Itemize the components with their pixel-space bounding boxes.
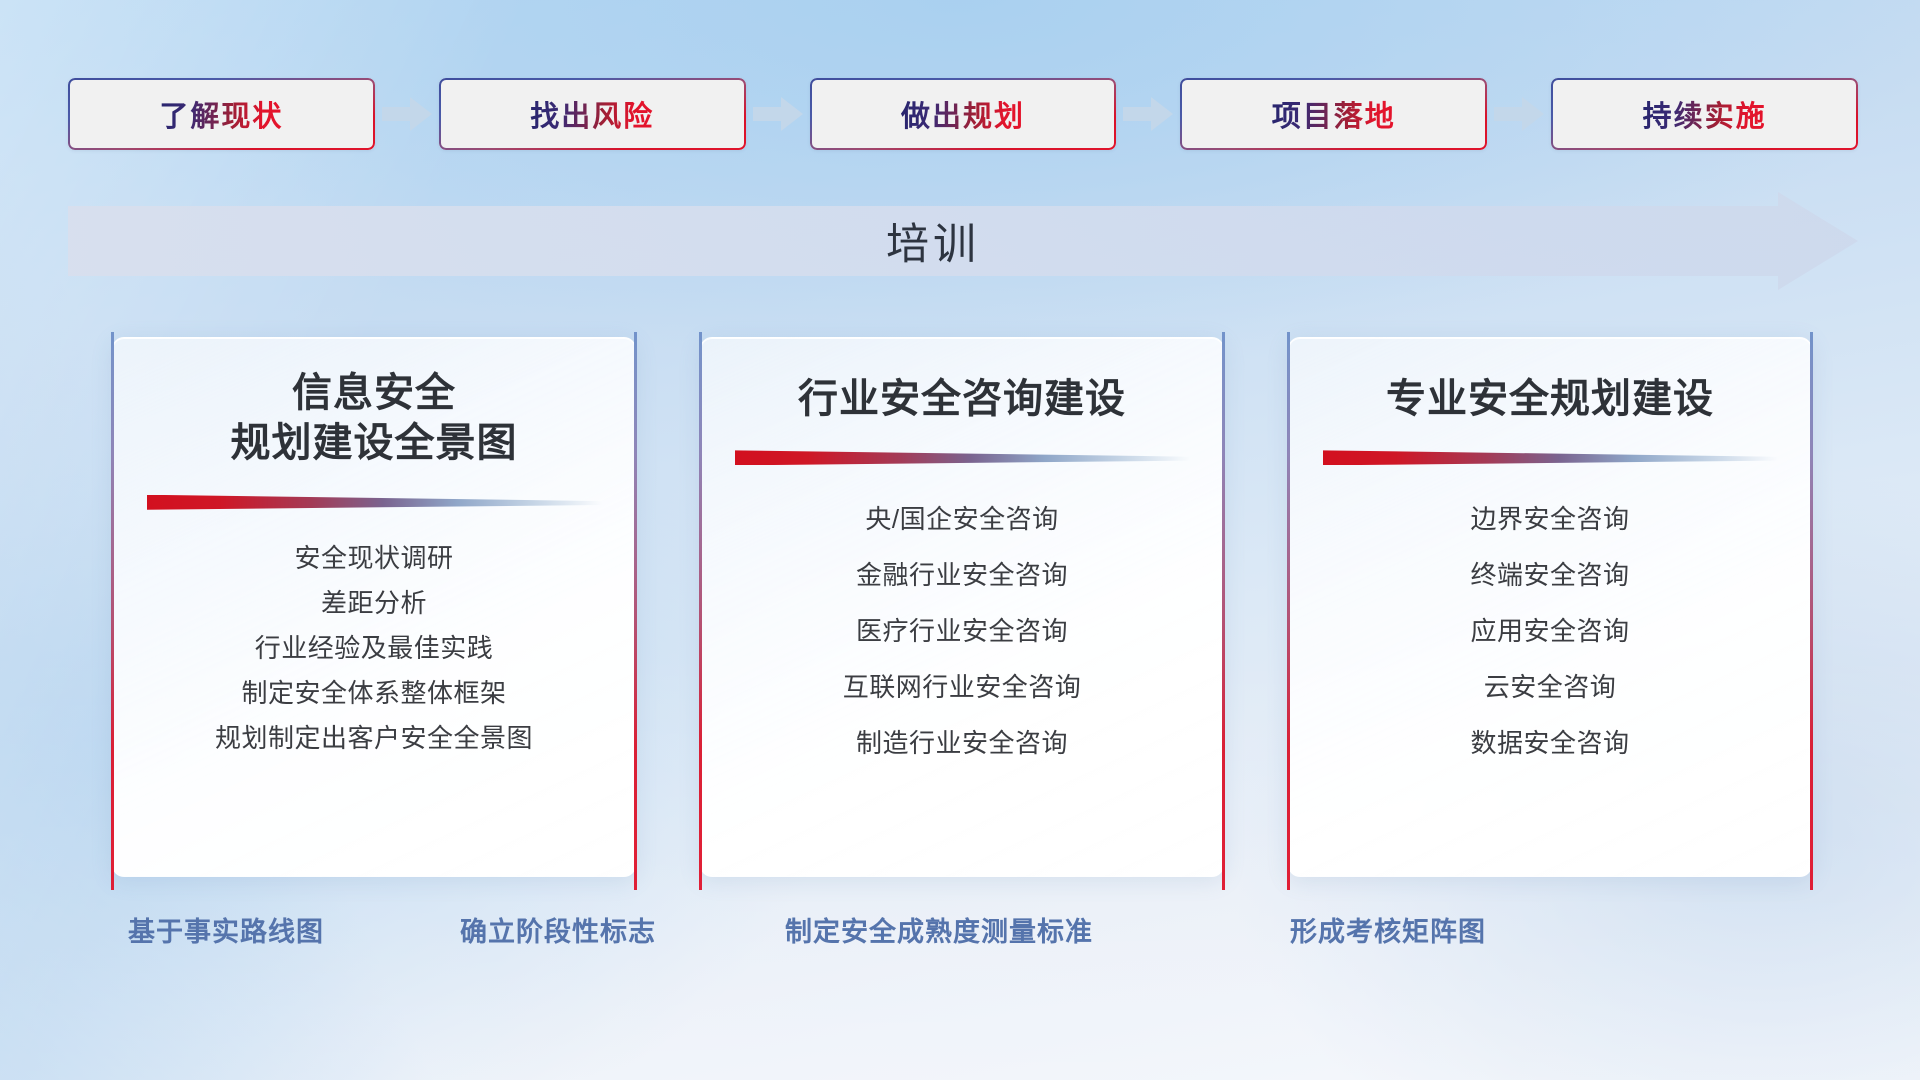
process-step-label: 持续实施 <box>1643 93 1767 135</box>
card-title-line: 专业安全规划建设 <box>1386 374 1714 424</box>
right-block-arrow-icon <box>375 78 439 150</box>
card-accent-bar-right <box>1222 332 1225 890</box>
card-accent-bar-left <box>699 332 702 890</box>
card-title-line: 信息安全 <box>231 368 518 418</box>
card-list-item: 边界安全咨询 <box>1470 493 1629 545</box>
process-step-5[interactable]: 持续实施 <box>1551 78 1858 150</box>
caption-item: 形成考核矩阵图 <box>1290 910 1486 949</box>
caption-row: 基于事实路线图 确立阶段性标志 制定安全成熟度测量标准 形成考核矩阵图 <box>0 910 1920 966</box>
caption-item: 制定安全成熟度测量标准 <box>785 910 1093 949</box>
process-step-label: 做出规划 <box>901 93 1025 135</box>
card-title-underline <box>735 450 1190 465</box>
process-step-1[interactable]: 了解现状 <box>68 78 375 150</box>
card-list-item: 医疗行业安全咨询 <box>856 605 1068 657</box>
process-step-2[interactable]: 找出风险 <box>439 78 746 150</box>
card-list-item: 规划制定出客户安全全景图 <box>215 718 533 759</box>
gradient-wedge-icon <box>1323 450 1778 465</box>
card-accent-bar-right <box>634 332 637 890</box>
card-accent-bar-left <box>111 332 114 890</box>
slide-canvas: 了解现状 找出风险 做出规划 项目落地 <box>0 0 1920 1080</box>
card-title: 信息安全 规划建设全景图 <box>231 368 518 469</box>
training-banner-label: 培训 <box>68 192 1858 290</box>
card-accent-bar-right <box>1810 332 1813 890</box>
process-step-3[interactable]: 做出规划 <box>810 78 1117 150</box>
gradient-wedge-icon <box>735 450 1190 465</box>
right-block-arrow-icon <box>746 78 810 150</box>
card-list-item: 数据安全咨询 <box>1470 717 1629 769</box>
card-list-item: 制造行业安全咨询 <box>856 717 1068 769</box>
caption-item: 基于事实路线图 <box>128 910 324 949</box>
process-step-4[interactable]: 项目落地 <box>1180 78 1487 150</box>
service-card-2[interactable]: 行业安全咨询建设 央/国企安全咨询 金融行业安全咨询 医疗行业安全咨询 互联网行… <box>700 337 1224 877</box>
card-title: 行业安全咨询建设 <box>798 374 1126 424</box>
card-list-item: 行业经验及最佳实践 <box>255 628 494 669</box>
card-list-item: 安全现状调研 <box>294 538 453 579</box>
card-item-list: 安全现状调研 差距分析 行业经验及最佳实践 制定安全体系整体框架 规划制定出客户… <box>113 538 635 759</box>
card-item-list: 央/国企安全咨询 金融行业安全咨询 医疗行业安全咨询 互联网行业安全咨询 制造行… <box>701 493 1223 769</box>
right-block-arrow-icon <box>1487 78 1551 150</box>
card-item-list: 边界安全咨询 终端安全咨询 应用安全咨询 云安全咨询 数据安全咨询 <box>1289 493 1811 769</box>
service-card-row: 信息安全 规划建设全景图 安全现状调研 差距分析 行业经验及最佳实践 制定安全体… <box>112 337 1812 877</box>
card-list-item: 终端安全咨询 <box>1470 549 1629 601</box>
process-step-label: 找出风险 <box>530 93 654 135</box>
process-step-label: 了解现状 <box>159 93 283 135</box>
card-title: 专业安全规划建设 <box>1386 374 1714 424</box>
card-list-item: 应用安全咨询 <box>1470 605 1629 657</box>
card-list-item: 央/国企安全咨询 <box>865 493 1058 545</box>
training-banner: 培训 <box>68 192 1858 290</box>
gradient-wedge-icon <box>147 495 602 510</box>
service-card-1[interactable]: 信息安全 规划建设全景图 安全现状调研 差距分析 行业经验及最佳实践 制定安全体… <box>112 337 636 877</box>
card-list-item: 金融行业安全咨询 <box>856 549 1068 601</box>
process-step-label: 项目落地 <box>1272 93 1396 135</box>
card-list-item: 云安全咨询 <box>1484 661 1617 713</box>
card-accent-bar-left <box>1287 332 1290 890</box>
card-list-item: 制定安全体系整体框架 <box>241 673 506 714</box>
right-block-arrow-icon <box>1116 78 1180 150</box>
process-step-row: 了解现状 找出风险 做出规划 项目落地 <box>68 78 1858 150</box>
card-title-underline <box>147 495 602 510</box>
caption-item: 确立阶段性标志 <box>460 910 656 949</box>
card-list-item: 差距分析 <box>321 583 427 624</box>
card-list-item: 互联网行业安全咨询 <box>843 661 1082 713</box>
card-title-line: 规划建设全景图 <box>231 418 518 468</box>
card-title-line: 行业安全咨询建设 <box>798 374 1126 424</box>
card-title-underline <box>1323 450 1778 465</box>
service-card-3[interactable]: 专业安全规划建设 边界安全咨询 终端安全咨询 应用安全咨询 云安全咨询 数据安全… <box>1288 337 1812 877</box>
